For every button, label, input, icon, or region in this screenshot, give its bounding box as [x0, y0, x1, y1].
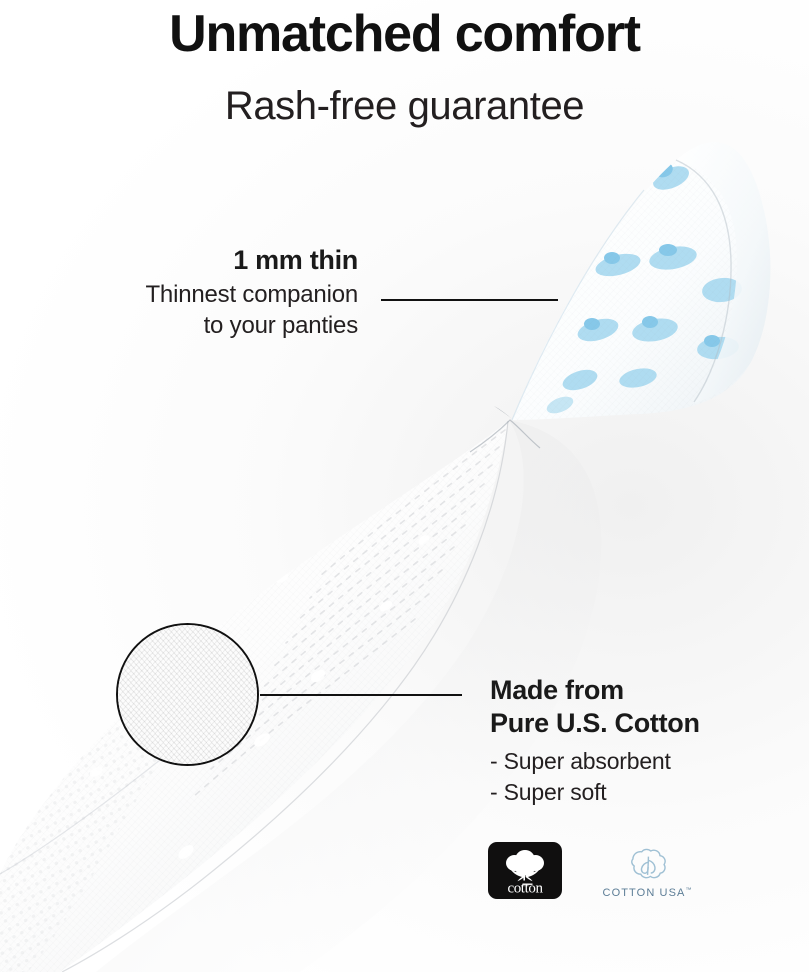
callout-material-title-line1: Made from: [490, 674, 790, 707]
callout-material-bullets: - Super absorbent - Super soft: [490, 746, 790, 808]
cotton-weave-texture: [116, 623, 259, 766]
cotton-usa-wordmark: COTTON USA™: [603, 887, 692, 899]
callout-material-title-line2: Pure U.S. Cotton: [490, 707, 790, 740]
product-illustration: [0, 0, 809, 972]
product-top-panel: [480, 130, 800, 440]
callout-thinness-title: 1 mm thin: [70, 244, 358, 276]
cotton-usa-trademark: ™: [685, 887, 691, 893]
leader-line-material: [260, 694, 462, 696]
cotton-seal-icon: cotton: [488, 842, 562, 899]
infographic-page: Unmatched comfort Rash-free guarantee 1 …: [0, 0, 809, 972]
cotton-usa-boll-icon: [601, 847, 693, 887]
callout-thinness-line2: to your panties: [70, 310, 358, 341]
cotton-seal-wordmark: cotton: [507, 880, 543, 896]
certification-logos: cotton COTTON USA™: [488, 841, 696, 899]
leader-line-thinness: [381, 299, 558, 301]
page-subtitle: Rash-free guarantee: [0, 82, 809, 130]
callout-material: Made from Pure U.S. Cotton - Super absor…: [490, 674, 790, 808]
page-title: Unmatched comfort: [0, 4, 809, 64]
callout-thinness-line1: Thinnest companion: [70, 279, 358, 310]
cotton-usa-wordmark-text: COTTON USA: [603, 887, 686, 899]
callout-material-bullet-1: - Super soft: [490, 777, 790, 808]
cotton-usa-logo: COTTON USA™: [598, 841, 696, 899]
cotton-seal-logo: cotton: [488, 842, 562, 899]
callout-thinness: 1 mm thin Thinnest companion to your pan…: [70, 244, 358, 341]
callout-material-bullet-0: - Super absorbent: [490, 746, 790, 777]
cotton-zoom-circle: [116, 623, 259, 766]
